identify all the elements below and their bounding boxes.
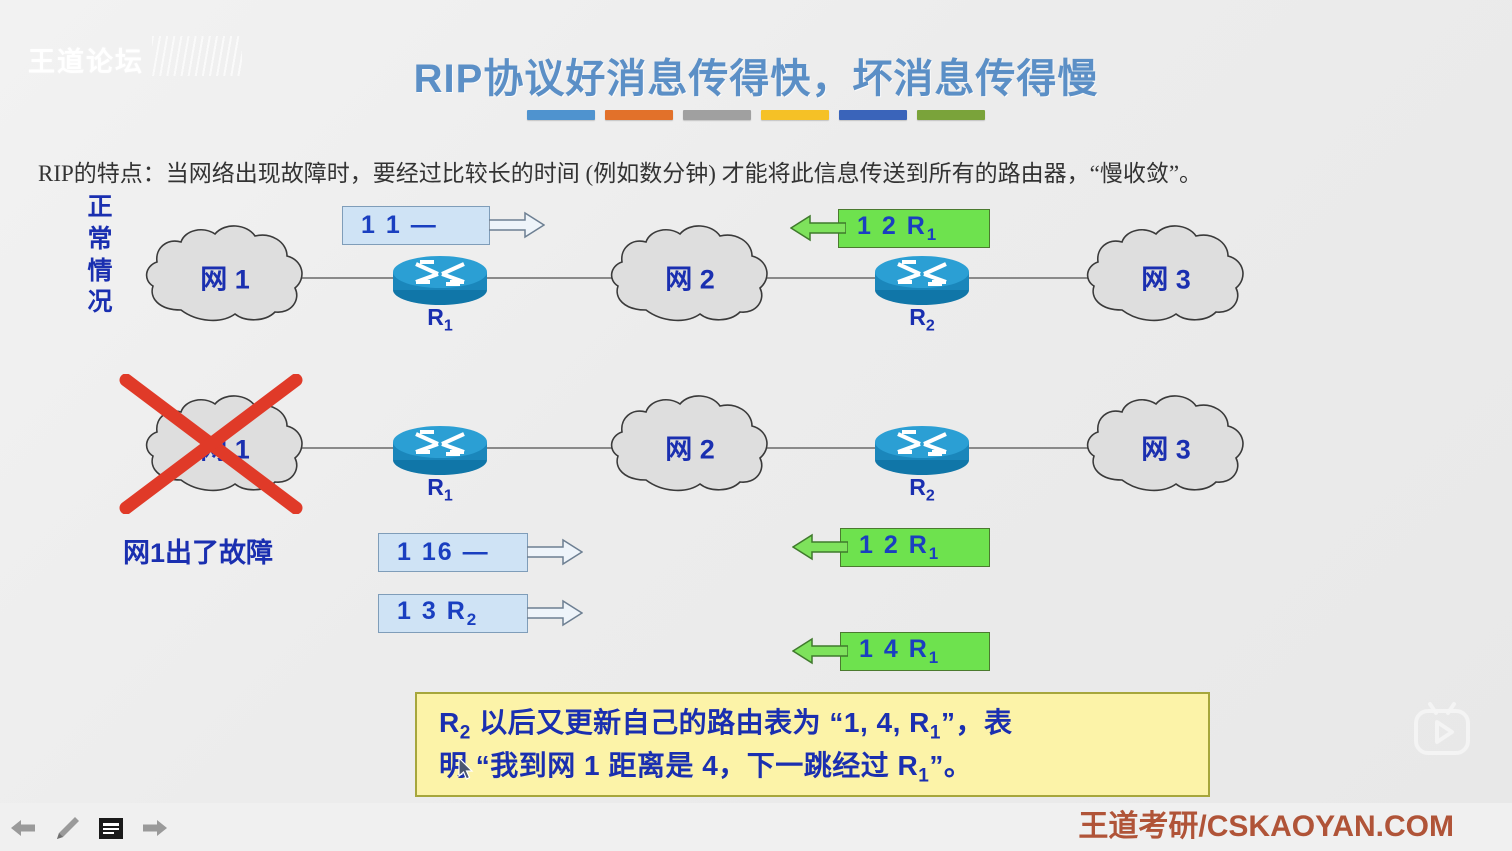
message-text: 1 2 R1 xyxy=(857,212,938,245)
vertical-label-normal: 正 常 情 况 xyxy=(84,192,116,319)
link-r2-net3 xyxy=(958,277,1093,279)
message-box-1-1: 1 1 — xyxy=(342,206,490,245)
message-text: 1 16 — xyxy=(397,538,490,567)
message-text: 1 2 R1 xyxy=(859,531,940,564)
arrow-left-icon xyxy=(792,533,848,561)
router-label: R1 xyxy=(390,474,490,506)
next-arrow-icon[interactable] xyxy=(140,813,170,843)
pencil-icon[interactable] xyxy=(52,813,82,843)
rule-bar-1 xyxy=(605,110,673,120)
arrow-left-icon xyxy=(792,637,848,665)
message-text: 1 4 R1 xyxy=(859,635,940,668)
message-box-1-2: 1 2 R1 xyxy=(838,209,990,248)
router-r2-fault: R2 xyxy=(872,422,972,478)
message-box-2-3: 1 2 R1 xyxy=(840,528,990,567)
router-label: R2 xyxy=(872,304,972,336)
link-r2-net3-fault xyxy=(958,447,1093,449)
cloud-net2-normal: 网 2 xyxy=(602,222,778,332)
rule-bar-2 xyxy=(683,110,751,120)
title-rule-bars xyxy=(527,110,985,120)
red-x-icon xyxy=(118,374,304,514)
router-r2-normal: R2 xyxy=(872,252,972,308)
message-text: 1 1 — xyxy=(361,211,438,240)
message-box-2-1: 1 16 — xyxy=(378,533,528,572)
mouse-cursor xyxy=(458,757,476,783)
cloud-net3-normal: 网 3 xyxy=(1078,222,1254,332)
router-r1-fault: R1 xyxy=(390,422,490,478)
callout-line-2: 明 “我到网 1 距离是 4，下一跳经过 R1”。 xyxy=(439,747,1190,790)
brand-label: 王道考研/CSKAOYAN.COM xyxy=(1078,801,1454,845)
arrow-left-icon xyxy=(790,214,846,242)
rule-bar-5 xyxy=(917,110,985,120)
message-box-2-2: 1 3 R2 xyxy=(378,594,528,633)
toolbar xyxy=(8,813,170,843)
cloud-net2-fault: 网 2 xyxy=(602,392,778,502)
vlabel-char-1: 常 xyxy=(84,224,116,256)
callout-line-1: R2 以后又更新自己的路由表为 “1, 4, R1”，表 xyxy=(439,704,1190,747)
callout-box: R2 以后又更新自己的路由表为 “1, 4, R1”，表 明 “我到网 1 距离… xyxy=(415,692,1210,797)
cloud-net3-fault: 网 3 xyxy=(1078,392,1254,502)
message-box-2-4: 1 4 R1 xyxy=(840,632,990,671)
vlabel-char-3: 况 xyxy=(84,287,116,319)
intro-paragraph: RIP的特点：当网络出现故障时，要经过比较长的时间 (例如数分钟) 才能将此信息… xyxy=(38,154,1202,188)
prev-arrow-icon[interactable] xyxy=(8,813,38,843)
vlabel-char-0: 正 xyxy=(84,192,116,224)
arrow-right-icon xyxy=(527,599,583,627)
rule-bar-4 xyxy=(839,110,907,120)
notes-icon[interactable] xyxy=(96,813,126,843)
arrow-right-icon xyxy=(489,211,545,239)
page-title: RIP协议好消息传得快，坏消息传得慢 xyxy=(0,46,1512,104)
rule-bar-3 xyxy=(761,110,829,120)
message-text: 1 3 R2 xyxy=(397,597,478,630)
vlabel-char-2: 情 xyxy=(84,256,116,288)
router-r1-normal: R1 xyxy=(390,252,490,308)
rule-bar-0 xyxy=(527,110,595,120)
router-label: R1 xyxy=(390,304,490,336)
router-label: R2 xyxy=(872,474,972,506)
arrow-right-icon xyxy=(527,538,583,566)
presentation-slide: 王道论坛 RIP协议好消息传得快，坏消息传得慢 RIP的特点：当网络出现故障时，… xyxy=(0,0,1512,851)
bilibili-play-icon xyxy=(1410,698,1474,758)
fault-caption: 网1出了故障 xyxy=(123,531,273,570)
cloud-net1-normal: 网 1 xyxy=(137,222,313,332)
